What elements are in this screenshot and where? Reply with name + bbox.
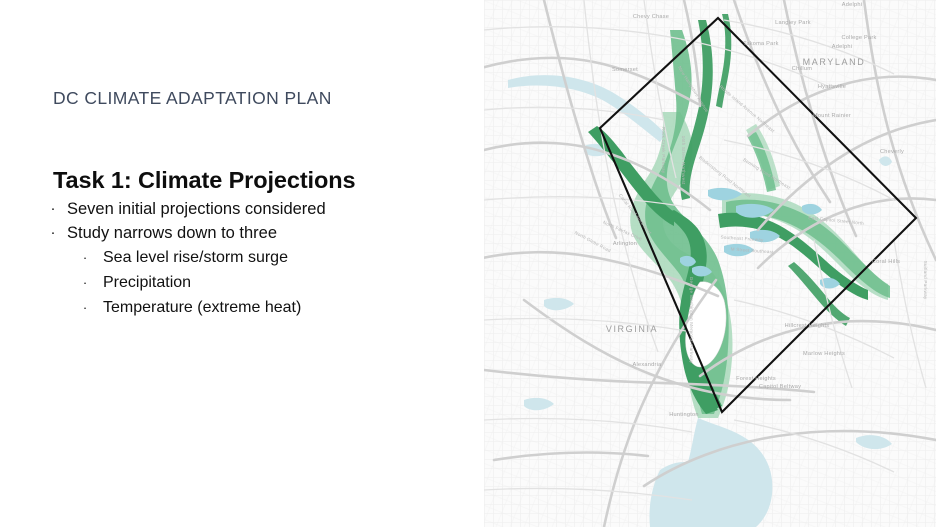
list-item: ·Precipitation	[46, 270, 466, 295]
bullet-marker-icon: ·	[78, 270, 92, 295]
list-item: ·Sea level rise/storm surge	[46, 245, 466, 270]
map-place-label: Forest Heights	[736, 376, 776, 382]
list-item: ·Temperature (extreme heat)	[46, 295, 466, 320]
map-place-label: Alexandria	[633, 362, 663, 368]
list-item-label: Seven initial projections considered	[60, 197, 466, 221]
map-road-label: Suitland Parkway	[923, 261, 928, 300]
map-place-label: Cheverly	[880, 149, 904, 155]
map-place-label: College Park	[841, 35, 876, 41]
map-place-label: Adelphi	[832, 44, 852, 50]
map-place-label: Marlow Heights	[803, 351, 845, 357]
map-road-label: George Washington Memorial Parkway	[689, 277, 694, 364]
map-place-label: Capitol Beltway	[759, 384, 801, 390]
map-road-label: 16th Street Northwest	[681, 136, 686, 185]
list-item: ·Seven initial projections considered	[46, 197, 466, 221]
map-state-label: VIRGINIA	[606, 324, 658, 334]
map-place-label: Coral Hills	[872, 259, 900, 265]
text-pane: DC CLIMATE ADAPTATION PLAN Task 1: Clima…	[0, 0, 484, 527]
map-place-label: Adelphi	[842, 2, 862, 8]
map-road-label: Rock Creek Parkway	[661, 127, 666, 174]
map-place-label: Hillcrest Heights	[785, 323, 830, 329]
slide-eyebrow-title: DC CLIMATE ADAPTATION PLAN	[53, 88, 332, 109]
map-place-label: Langley Park	[775, 20, 811, 26]
list-item: ·Study narrows down to three	[46, 221, 466, 245]
map-place-label: Arlington	[613, 241, 637, 247]
list-item-label: Precipitation	[92, 270, 466, 295]
dc-flood-map[interactable]: Chevy ChaseSomersetTakoma ParkLangley Pa…	[484, 0, 936, 527]
map-place-label: Mount Rainier	[813, 113, 851, 119]
map-pane[interactable]: Chevy ChaseSomersetTakoma ParkLangley Pa…	[484, 0, 936, 527]
page-title: Task 1: Climate Projections	[53, 167, 355, 194]
map-place-label: Chillum	[792, 66, 812, 72]
list-item-label: Temperature (extreme heat)	[92, 295, 466, 320]
list-item-label: Study narrows down to three	[60, 221, 466, 245]
bullet-list: ·Seven initial projections considered·St…	[46, 197, 466, 320]
map-place-label: Huntington	[669, 412, 699, 418]
bullet-marker-icon: ·	[78, 245, 92, 270]
map-place-label: Hyattsville	[818, 84, 846, 90]
bullet-marker-icon: ·	[46, 197, 60, 221]
list-item-label: Sea level rise/storm surge	[92, 245, 466, 270]
bullet-marker-icon: ·	[78, 295, 92, 320]
bullet-marker-icon: ·	[46, 221, 60, 245]
slide-root: DC CLIMATE ADAPTATION PLAN Task 1: Clima…	[0, 0, 936, 527]
map-place-label: Takoma Park	[743, 41, 778, 47]
map-place-label: Chevy Chase	[633, 14, 669, 20]
map-place-label: Somerset	[612, 67, 638, 73]
